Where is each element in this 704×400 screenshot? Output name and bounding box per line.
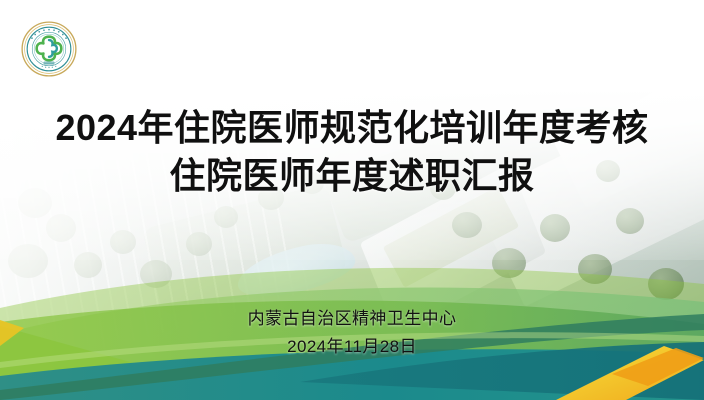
title-slide: 2024年住院医师规范化培训年度考核 住院医师年度述职汇报 内蒙古自治区精神卫生… xyxy=(0,0,704,400)
organization-name: 内蒙古自治区精神卫生中心 xyxy=(0,305,704,333)
title-line-2: 住院医师年度述职汇报 xyxy=(0,152,704,200)
slide-footer: 内蒙古自治区精神卫生中心 2024年11月28日 xyxy=(0,305,704,360)
institution-logo xyxy=(21,21,77,77)
presentation-date: 2024年11月28日 xyxy=(0,333,704,361)
logo-year-plate xyxy=(43,61,54,64)
title-line-1: 2024年住院医师规范化培训年度考核 xyxy=(0,104,704,152)
slide-title: 2024年住院医师规范化培训年度考核 住院医师年度述职汇报 xyxy=(0,104,704,200)
